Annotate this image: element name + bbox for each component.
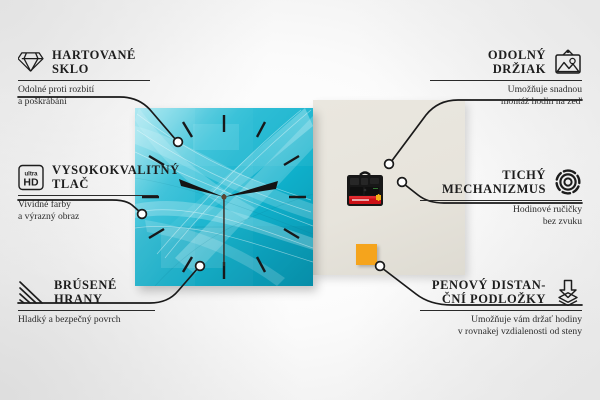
gear-icon <box>554 168 582 196</box>
feature-title: VYSOKOKVALITNÝ TLAČ <box>52 163 180 191</box>
divider-rule <box>18 195 158 196</box>
feature-durable-holder: ODOLNÝ DRŽIAK Umožňuje snadnou montáž ho… <box>430 48 582 107</box>
feature-title: PENOVÝ DISTAN- ČNÍ PODLOŽKY <box>432 278 546 306</box>
diagonal-lines-icon <box>18 279 46 305</box>
feature-subtitle: Odolné proti rozbití a poškrábání <box>18 84 170 107</box>
stacked-arrow-down-icon <box>554 279 582 306</box>
feature-header: TICHÝ MECHANIZMUS <box>420 168 582 196</box>
feature-subtitle: Umožňuje vám držať hodiny v rovnakej vzd… <box>420 314 582 337</box>
feature-header: ODOLNÝ DRŽIAK <box>430 48 582 76</box>
picture-frame-hanger-icon <box>554 49 582 75</box>
divider-rule <box>430 80 582 81</box>
feature-tempered-glass: HARTOVANÉ SKLO Odolné proti rozbití a po… <box>18 48 170 107</box>
feature-high-quality-print: ultra HD VYSOKOKVALITNÝ TLAČ Vividné far… <box>18 163 176 222</box>
diamond-icon <box>18 50 44 74</box>
feature-subtitle: Hodinové ručičky bez zvuku <box>420 204 582 227</box>
feature-header: HARTOVANÉ SKLO <box>18 48 170 76</box>
feature-foam-spacers: PENOVÝ DISTAN- ČNÍ PODLOŽKY Umožňuje vám… <box>420 278 582 337</box>
feature-header: BRÚSENÉ HRANY <box>18 278 170 306</box>
feature-title: ODOLNÝ DRŽIAK <box>488 48 546 76</box>
feature-subtitle: Hladký a bezpečný povrch <box>18 314 170 326</box>
ultra-hd-icon-big-label: HD <box>23 176 39 188</box>
feature-title: TICHÝ MECHANIZMUS <box>442 168 546 196</box>
feature-title: BRÚSENÉ HRANY <box>54 278 117 306</box>
infographic-page: HARTOVANÉ SKLO Odolné proti rozbití a po… <box>0 0 600 400</box>
divider-rule <box>420 200 582 201</box>
feature-ground-edges: BRÚSENÉ HRANY Hladký a bezpečný povrch <box>18 278 170 326</box>
divider-rule <box>420 310 582 311</box>
feature-subtitle: Umožňuje snadnou montáž hodin na zeď <box>430 84 582 107</box>
feature-subtitle: Vividné farby a výrazný obraz <box>18 199 176 222</box>
feature-title: HARTOVANÉ SKLO <box>52 48 136 76</box>
feature-header: PENOVÝ DISTAN- ČNÍ PODLOŽKY <box>420 278 582 306</box>
feature-header: ultra HD VYSOKOKVALITNÝ TLAČ <box>18 163 176 191</box>
feature-silent-mechanism: TICHÝ MECHANIZMUS Hodinové ručičky bez z… <box>420 168 582 227</box>
ultra-hd-icon: ultra HD <box>18 164 44 191</box>
divider-rule <box>18 310 155 311</box>
divider-rule <box>18 80 150 81</box>
